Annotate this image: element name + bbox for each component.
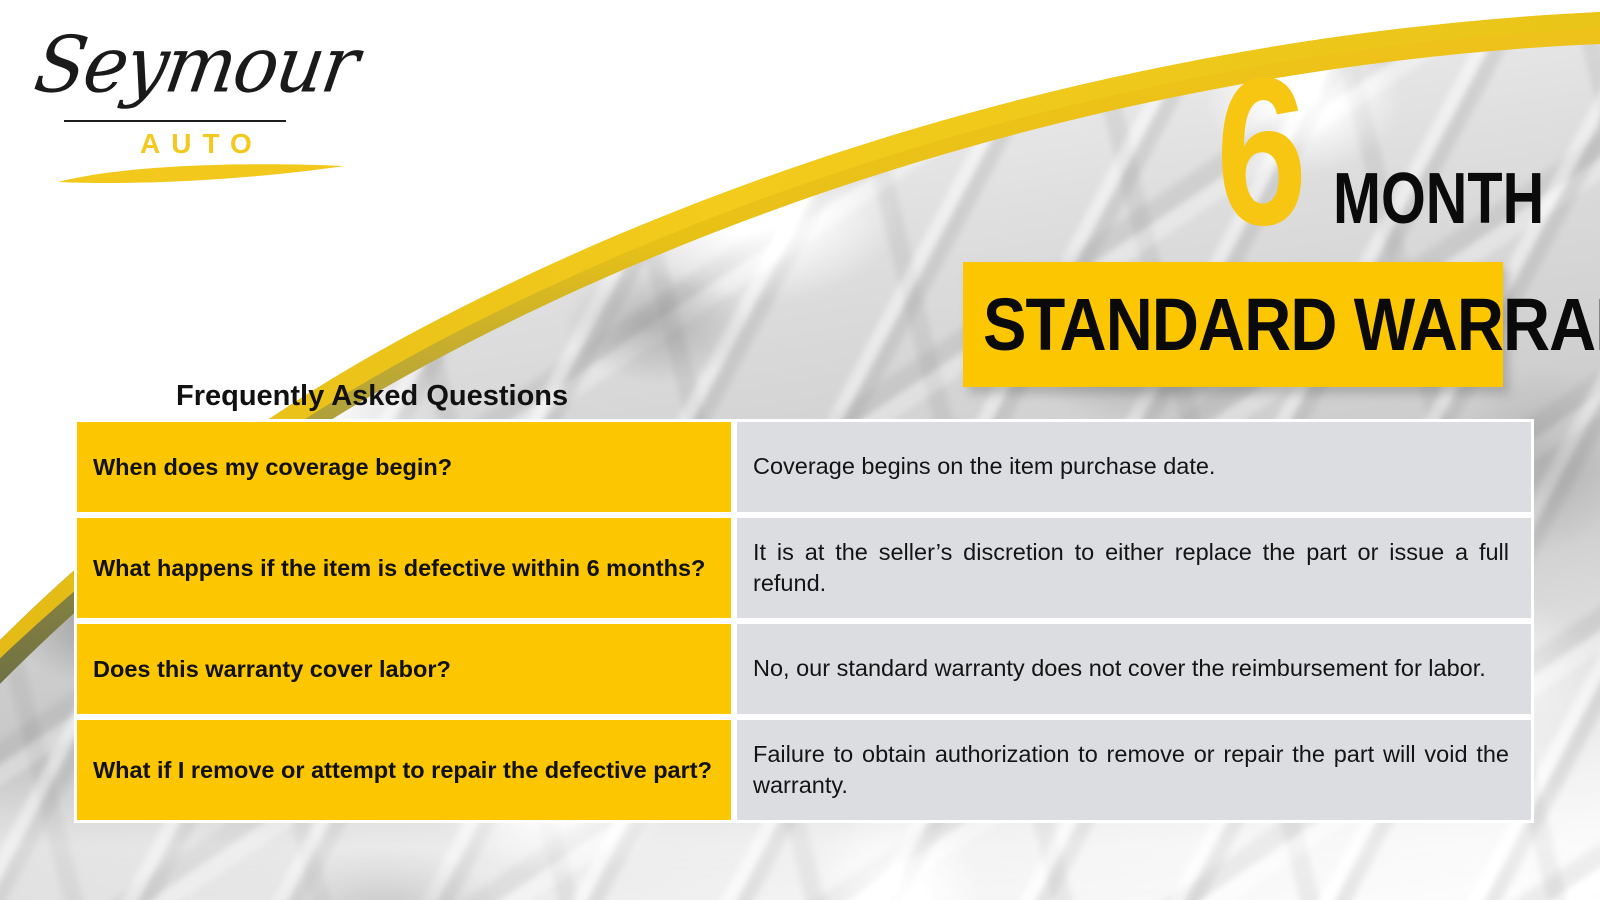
logo[interactable]: Seymour AUTO xyxy=(28,22,338,182)
faq-answer: Failure to obtain authorization to remov… xyxy=(734,717,1534,823)
yellow-swoosh-icon xyxy=(56,162,346,188)
logo-subtitle: AUTO xyxy=(140,130,263,158)
faq-question: What happens if the item is defective wi… xyxy=(74,515,734,621)
faq-answer: No, our standard warranty does not cover… xyxy=(734,621,1534,717)
faq-question: When does my coverage begin? xyxy=(74,419,734,515)
faq-question: What if I remove or attempt to repair th… xyxy=(74,717,734,823)
table-row: When does my coverage begin? Coverage be… xyxy=(74,419,1534,515)
warranty-slide: Seymour AUTO 6 MONTH STANDARD WARRANTY F… xyxy=(0,0,1600,900)
term-unit: MONTH xyxy=(1333,168,1544,231)
table-row: Does this warranty cover labor? No, our … xyxy=(74,621,1534,717)
table-row: What happens if the item is defective wi… xyxy=(74,515,1534,621)
faq-question: Does this warranty cover labor? xyxy=(74,621,734,717)
table-row: What if I remove or attempt to repair th… xyxy=(74,717,1534,823)
faq-answer: It is at the seller’s discretion to eith… xyxy=(734,515,1534,621)
logo-underline xyxy=(64,120,286,122)
faq-title: Frequently Asked Questions xyxy=(176,381,568,413)
faq-answer: Coverage begins on the item purchase dat… xyxy=(734,419,1534,515)
faq-table: When does my coverage begin? Coverage be… xyxy=(74,419,1534,823)
standard-warranty-label: STANDARD WARRANTY xyxy=(983,288,1600,362)
term-number: 6 xyxy=(1216,66,1304,238)
standard-warranty-banner: STANDARD WARRANTY xyxy=(963,262,1503,387)
logo-wordmark: Seymour xyxy=(30,26,362,104)
